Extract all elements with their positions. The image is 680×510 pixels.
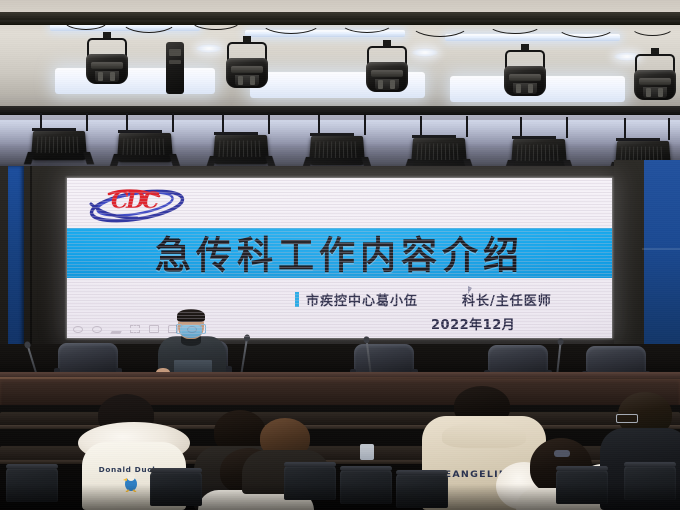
recessed-downlight xyxy=(196,44,222,53)
ceiling-speaker xyxy=(309,136,365,165)
projection-screen: C D C 急传科工作内容介绍 市疾控中心葛小伍 科长/主任医师 2022年12… xyxy=(67,178,612,338)
ceiling-speaker xyxy=(511,139,567,168)
presenter-role: 科长/主任医师 xyxy=(462,290,552,309)
audience-seat xyxy=(150,468,202,473)
truss-rail xyxy=(0,106,680,115)
comment-icon[interactable] xyxy=(168,325,178,333)
presenter-org: 市疾控中心葛小伍 xyxy=(306,290,418,309)
slide-date: 2022年12月 xyxy=(431,314,515,333)
dimmer-control-box xyxy=(166,42,184,94)
slides-icon[interactable] xyxy=(149,325,159,333)
coat-brand-text: Donald Duck xyxy=(99,466,158,474)
slide-title-band: 急传科工作内容介绍 xyxy=(67,228,612,278)
china-cdc-logo: C D C xyxy=(85,184,193,224)
audience-seat xyxy=(340,470,392,504)
speaker-at-podium xyxy=(158,310,226,380)
mouse-cursor-icon xyxy=(468,286,472,294)
accent-bar xyxy=(295,292,299,307)
pointer-icon[interactable] xyxy=(73,326,83,333)
audience-seat xyxy=(624,466,676,500)
ceiling-speaker xyxy=(213,135,269,164)
ceiling-speaker xyxy=(411,138,467,167)
slide-title: 急传科工作内容介绍 xyxy=(155,226,524,281)
audience-seat xyxy=(624,462,676,467)
audience-seat xyxy=(556,466,608,471)
audience-seat xyxy=(284,462,336,467)
audience-seat xyxy=(284,466,336,500)
audience-seat xyxy=(6,464,58,469)
coat-graphic-duck xyxy=(122,472,140,492)
ppt-presenter-toolbar[interactable] xyxy=(73,325,197,333)
conference-hall-photo: C D C 急传科工作内容介绍 市疾控中心葛小伍 科长/主任医师 2022年12… xyxy=(0,0,680,510)
slide-presenter-row: 市疾控中心葛小伍 科长/主任医师 xyxy=(295,290,552,309)
expand-icon[interactable] xyxy=(130,325,140,333)
pen-icon[interactable] xyxy=(110,331,122,334)
audience-seat xyxy=(556,470,608,504)
audience-seat xyxy=(340,466,392,471)
hair-tie xyxy=(554,450,570,457)
audience-seat xyxy=(396,470,448,475)
more-icon[interactable] xyxy=(187,326,197,333)
ceiling-speaker xyxy=(31,131,87,160)
audience-seat xyxy=(396,474,448,508)
phone-screen xyxy=(360,444,374,460)
eyeglasses-icon xyxy=(616,414,638,423)
laser-icon[interactable] xyxy=(92,326,102,333)
audience-seat xyxy=(150,472,202,506)
recessed-downlight xyxy=(412,48,438,57)
audience-seat xyxy=(6,468,58,502)
ceiling-speaker xyxy=(117,133,173,162)
